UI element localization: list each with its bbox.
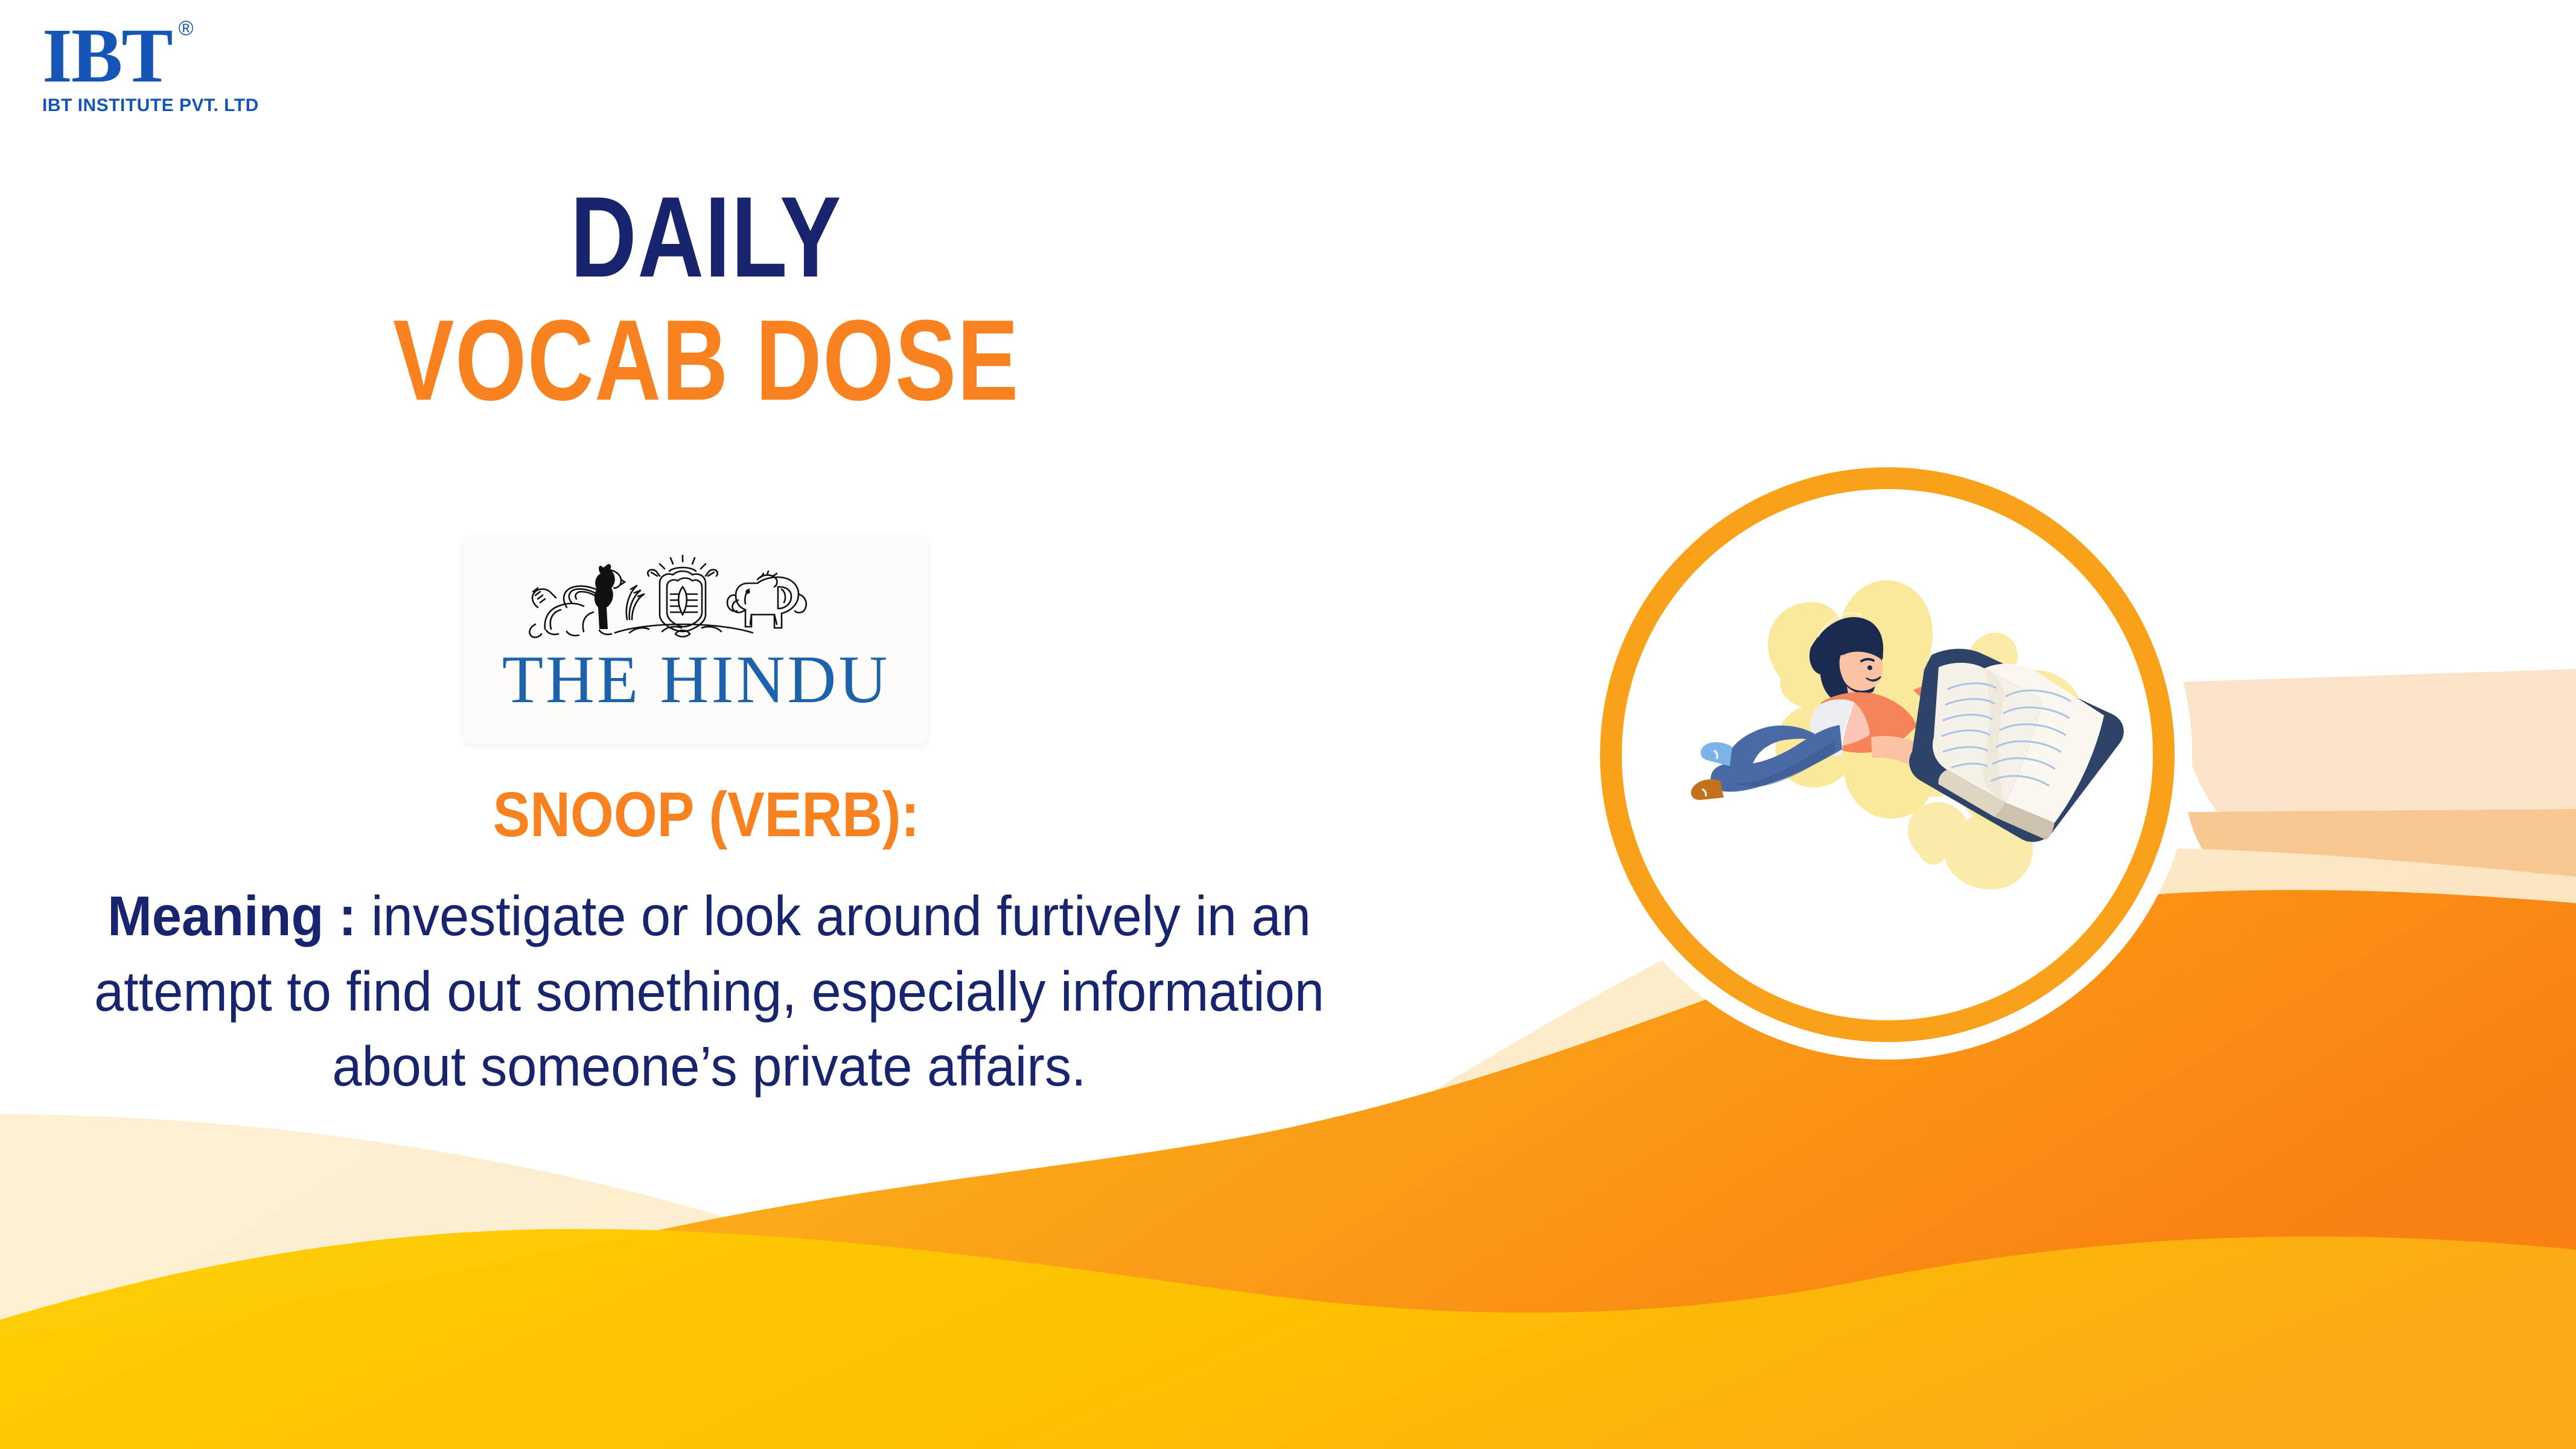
meaning-label: Meaning :	[107, 884, 371, 947]
wave-gold-front	[0, 1229, 2576, 1449]
headword: SNOOP (VERB):	[340, 779, 1073, 851]
illustration-badge	[1583, 450, 2192, 1060]
the-hindu-wordmark: THE HINDU	[502, 646, 890, 714]
badge-inner-disc	[1630, 497, 2145, 1012]
poster-heading: DAILY VOCAB DOSE	[290, 181, 1123, 417]
the-hindu-crest-icon	[509, 552, 883, 642]
vocab-poster: IBT® IBT INSTITUTE PVT. LTD DAILY VOCAB …	[0, 0, 2576, 1449]
heading-line-daily: DAILY	[373, 181, 1039, 293]
woman-flying-with-open-book-icon	[1630, 497, 2145, 1012]
ibt-logo-subtitle: IBT INSTITUTE PVT. LTD	[42, 95, 266, 116]
meaning-text: Meaning : investigate or look around fur…	[70, 878, 1349, 1104]
ibt-logo-text: IBT	[42, 13, 172, 98]
source-logo-card: THE HINDU	[464, 536, 928, 744]
wave-cream-right	[2173, 669, 2576, 881]
heading-line-vocab-dose: VOCAB DOSE	[373, 304, 1039, 417]
ibt-logo: IBT® IBT INSTITUTE PVT. LTD	[42, 17, 266, 114]
registered-trademark-icon: ®	[179, 18, 193, 39]
ibt-logo-mark: IBT®	[42, 17, 172, 94]
wave-peach-right	[2188, 809, 2576, 906]
